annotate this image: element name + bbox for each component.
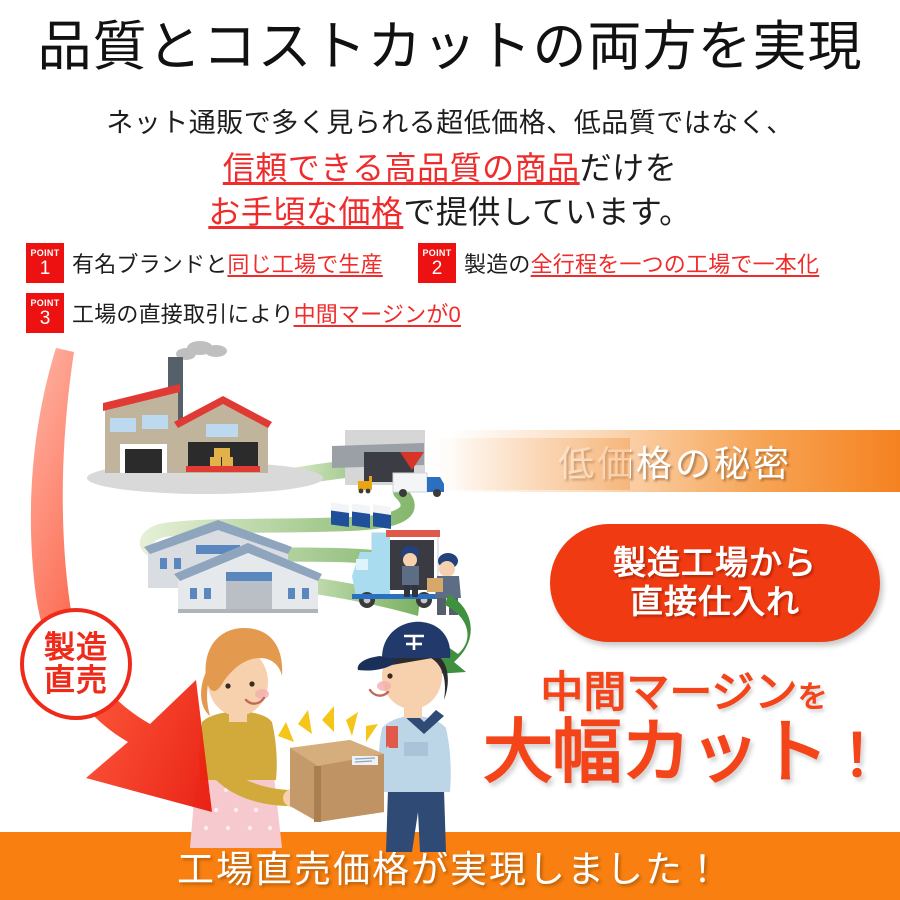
green-flow-arrow-low (264, 572, 420, 616)
postal-mark-icon (404, 636, 424, 650)
dc-red-flag (400, 452, 424, 470)
point-badge-number-3: 3 (40, 309, 51, 328)
factory-chimney (168, 357, 183, 457)
point-text-3-plain: 工場の直接取引により (72, 302, 294, 327)
point-text-2-plain: 製造の (464, 252, 531, 277)
lead-line-3: お手頃な価格で提供しています。 (0, 196, 900, 228)
factory-building (87, 341, 323, 494)
green-elbow-arrow (436, 594, 471, 674)
dc-truck-row (331, 503, 391, 529)
truck-open-rear (390, 540, 434, 590)
secret-heading-text: 低価格の秘密 (558, 435, 792, 487)
forklift (358, 476, 372, 493)
point-badge-3: POINT 3 (26, 293, 64, 333)
courier-cap (382, 622, 450, 658)
stamp-line-1: 製造 (44, 631, 108, 664)
factory-door (125, 449, 162, 473)
dc-white-truck (393, 473, 444, 497)
promo-banner: 品質とコストカットの両方を実現 ネット通販で多く見られる超低価格、低品質ではなく… (0, 0, 900, 900)
cut-copy-line-1-main: 中間マージン (540, 669, 797, 717)
pill-line-2: 直接仕入れ (630, 583, 800, 622)
customer-woman (190, 628, 309, 848)
truck-worker (401, 546, 419, 597)
point-text-1: 有名ブランドと同じ工場で生産 (72, 247, 383, 279)
lead-line-3-tail: で提供しています。 (403, 194, 691, 230)
point-row-3: POINT 3 工場の直接取引により中間マージンが0 (26, 293, 461, 333)
stamp-line-2: 直売 (44, 664, 108, 697)
factory-roof-right (174, 396, 272, 428)
bottom-banner: 工場直売価格が実現しました！ (0, 832, 900, 900)
distribution-center (331, 430, 444, 529)
point-badge-number-2: 2 (432, 259, 443, 278)
point-text-3-highlight: 中間マージンが0 (294, 302, 461, 327)
point-badge-word-1: POINT (30, 249, 59, 258)
warehouse-building (144, 520, 322, 613)
factory-roof-left (103, 384, 180, 411)
lead-line-2-highlight: 信頼できる高品質の商品 (223, 150, 580, 186)
point-text-3: 工場の直接取引により中間マージンが0 (72, 297, 461, 329)
lead-line-2: 信頼できる高品質の商品だけを (0, 152, 900, 184)
cut-copy-exclamation: ！ (828, 724, 885, 789)
cardboard-box (278, 706, 384, 822)
lead-line-3-highlight: お手頃な価格 (208, 194, 403, 230)
green-flow-arrow-top (278, 455, 392, 487)
delivery-truck (352, 530, 461, 615)
point-text-2: 製造の全行程を一つの工場で一本化 (464, 247, 819, 279)
point-badge-word-2: POINT (422, 249, 451, 258)
factory-boxes (210, 448, 233, 466)
point-badge-word-3: POINT (30, 299, 59, 308)
cut-copy-line-1-tail: を (798, 681, 828, 714)
lead-line-1: ネット通販で多く見られる超低価格、低品質ではなく、 (0, 110, 900, 137)
point-text-1-highlight: 同じ工場で生産 (227, 252, 382, 277)
green-flow-arrow-mid (147, 492, 423, 582)
sparkle-icon (278, 706, 378, 742)
point-badge-1: POINT 1 (26, 243, 64, 283)
margin-cut-copy: 中間マージンを 大幅カット！ (468, 672, 900, 787)
cut-copy-line-2: 大幅カット！ (468, 717, 900, 787)
delivery-man (297, 622, 451, 852)
lead-line-2-tail: だけを (580, 150, 678, 186)
point-row-2: POINT 2 製造の全行程を一つの工場で一本化 (418, 243, 819, 283)
pill-line-1: 製造工場から (613, 544, 817, 583)
smoke-puffs (176, 341, 227, 360)
point-row-1: POINT 1 有名ブランドと同じ工場で生産 (26, 243, 383, 283)
bottom-banner-text: 工場直売価格が実現しました！ (177, 839, 723, 893)
point-badge-2: POINT 2 (418, 243, 456, 283)
point-text-2-highlight: 全行程を一つの工場で一本化 (531, 252, 820, 277)
point-text-1-plain: 有名ブランドと (72, 252, 227, 277)
manufacturer-direct-stamp: 製造 直売 (20, 608, 132, 720)
secret-heading-bar: 低価格の秘密 (450, 430, 900, 492)
cut-copy-line-1: 中間マージンを (468, 672, 900, 715)
point-badge-number-1: 1 (40, 259, 51, 278)
cut-copy-line-2-main: 大幅カット (483, 713, 828, 791)
direct-sourcing-pill: 製造工場から 直接仕入れ (550, 524, 880, 642)
truck-loader (427, 553, 461, 615)
page-title: 品質とコストカットの両方を実現 (0, 18, 900, 76)
